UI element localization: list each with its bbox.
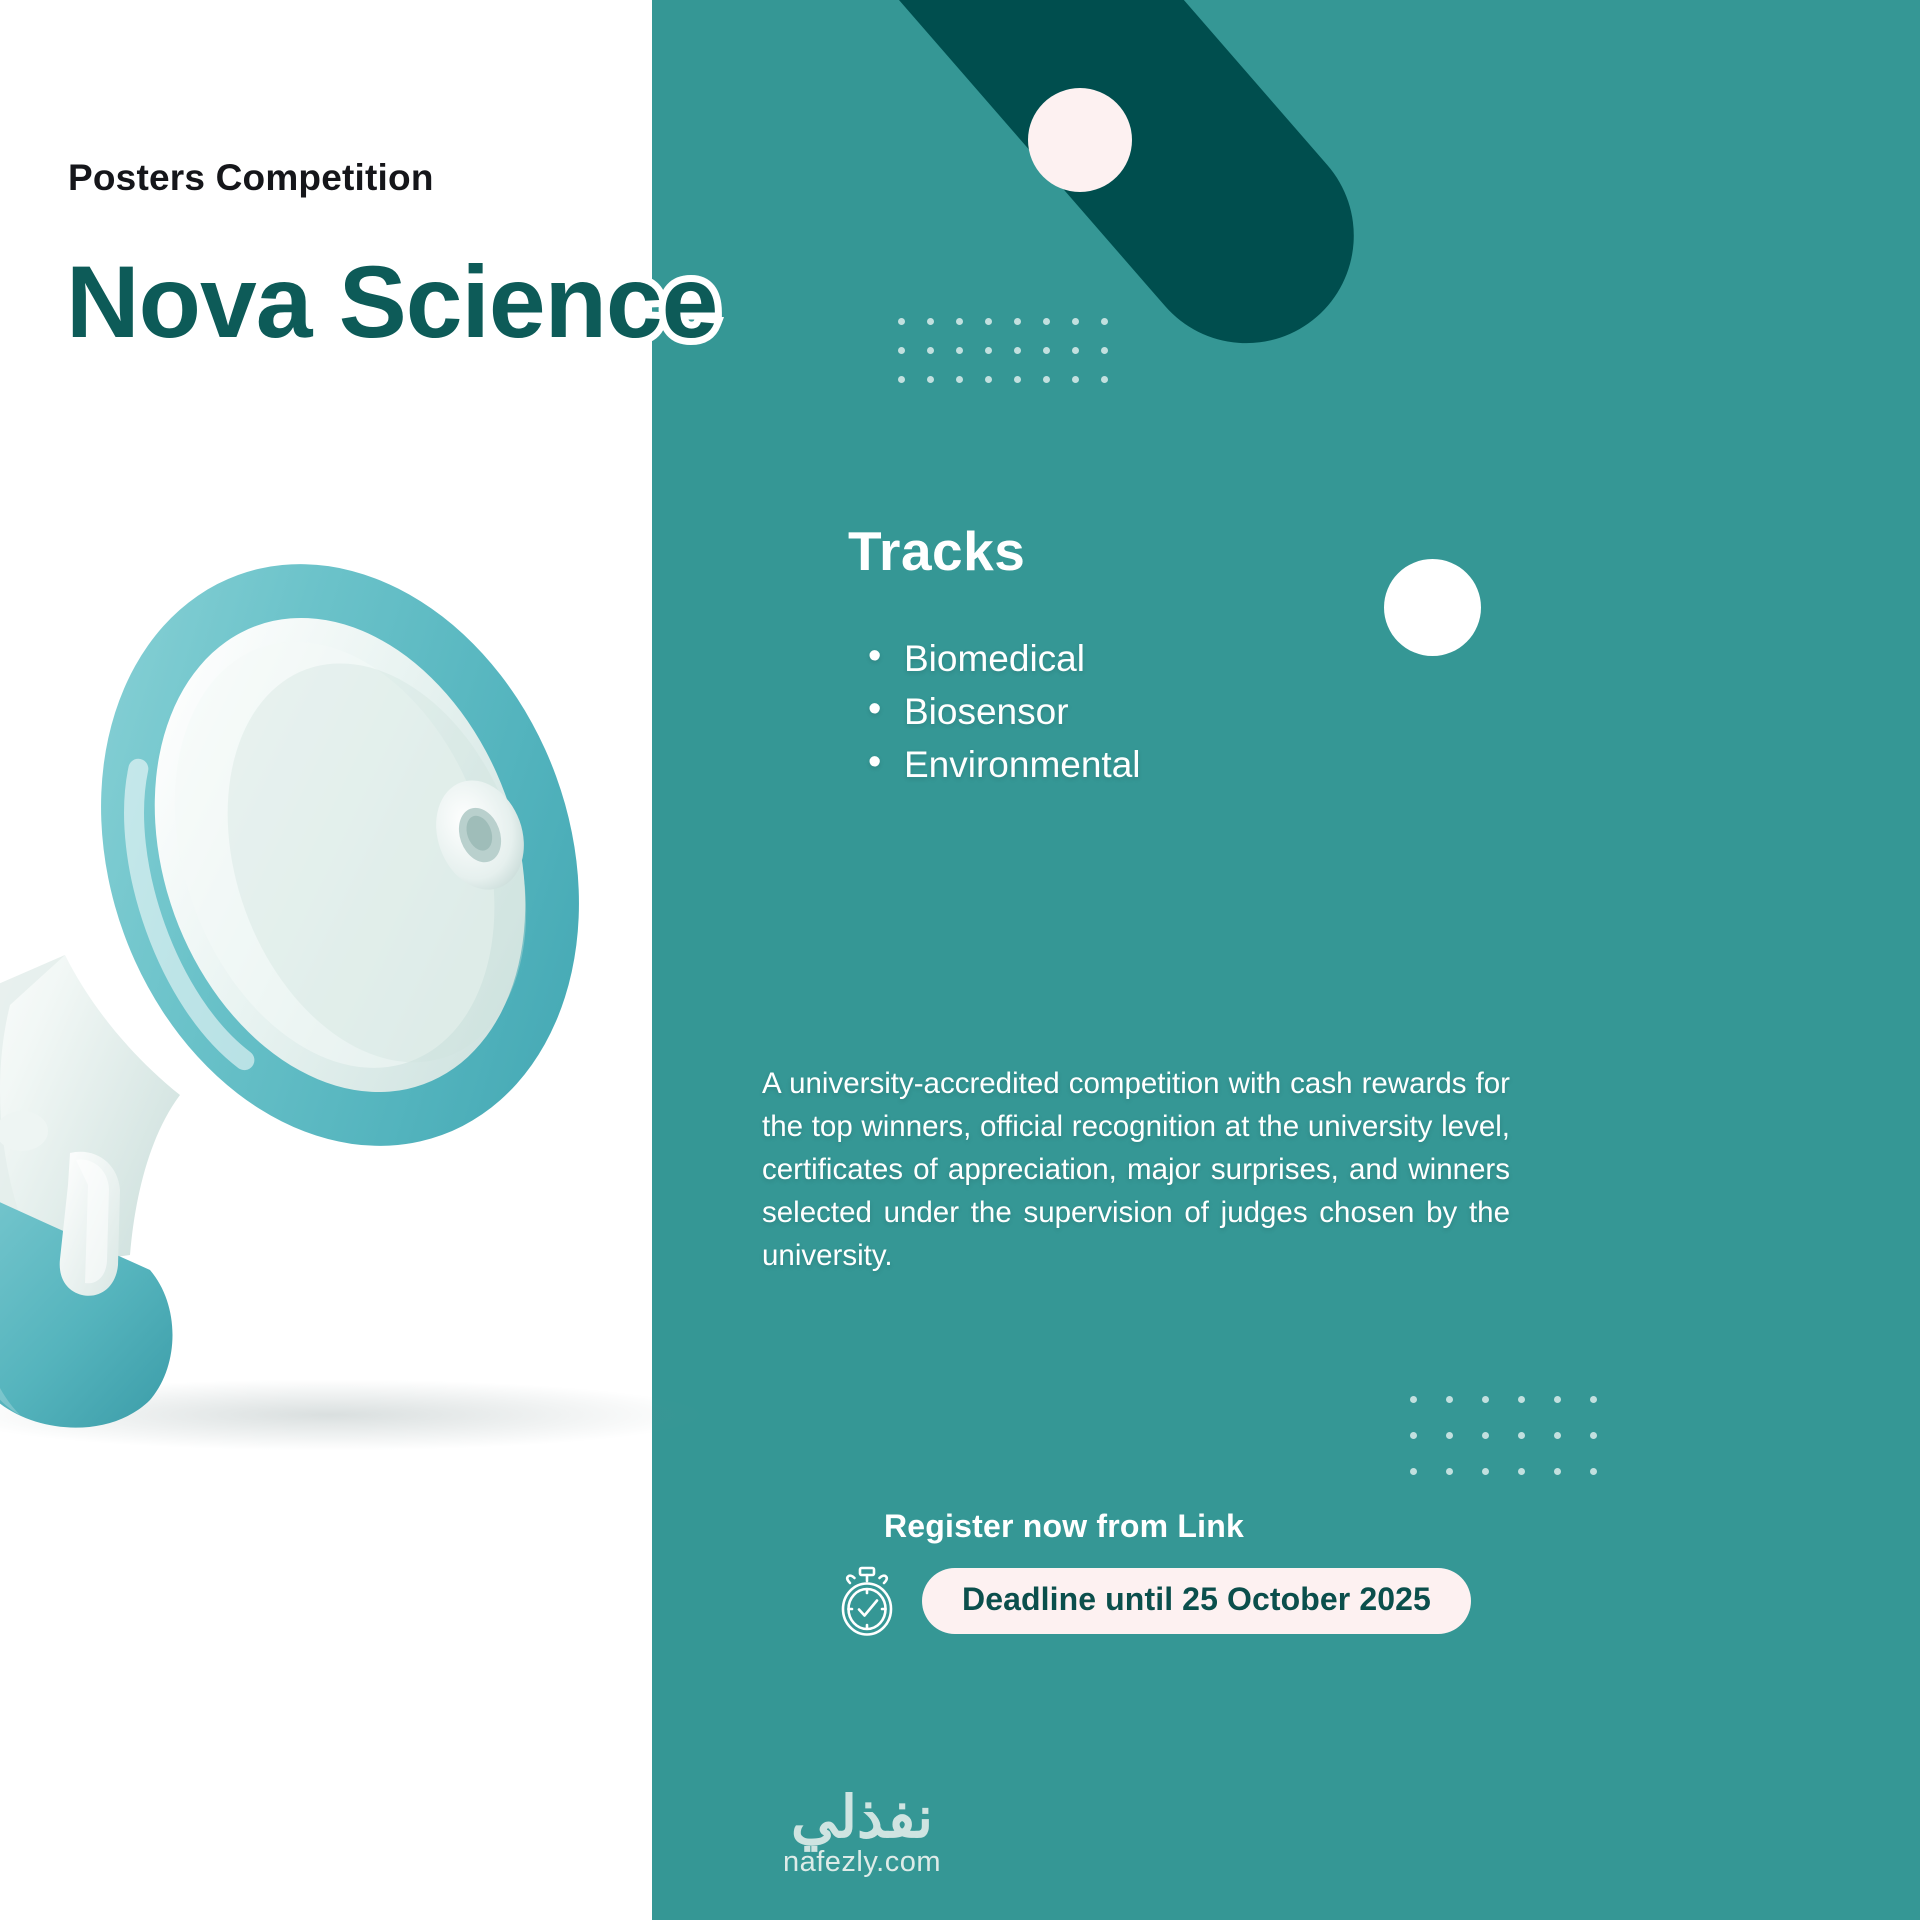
register-label: Register now from Link	[884, 1508, 1244, 1545]
kicker-label: Posters Competition	[68, 157, 434, 199]
watermark-domain: nafezly.com	[652, 1846, 1072, 1879]
tracks-heading: Tracks	[848, 519, 1025, 583]
stopwatch-check-icon	[836, 1566, 898, 1636]
dot-grid-bottom	[1410, 1396, 1626, 1504]
list-item: Biosensor	[868, 685, 1141, 738]
list-item: Biomedical	[868, 632, 1141, 685]
watermark-arabic: نفذلي	[652, 1786, 1072, 1850]
page-title: Nova Science	[66, 244, 717, 361]
white-circle-icon	[1384, 559, 1481, 656]
list-item: Environmental	[868, 738, 1141, 791]
deadline-badge[interactable]: Deadline until 25 October 2025	[922, 1568, 1471, 1634]
watermark: نفذلي nafezly.com	[652, 1786, 1072, 1879]
dot-grid-top	[898, 318, 1130, 405]
tracks-list: Biomedical Biosensor Environmental	[868, 632, 1141, 791]
poster-canvas: Posters Competition Nova Science	[0, 0, 1920, 1920]
description-paragraph: A university-accredited competition with…	[762, 1062, 1510, 1277]
deadline-row: Deadline until 25 October 2025	[836, 1566, 1471, 1636]
cream-circle-icon	[1028, 88, 1132, 192]
megaphone-3d-icon	[0, 535, 760, 1435]
